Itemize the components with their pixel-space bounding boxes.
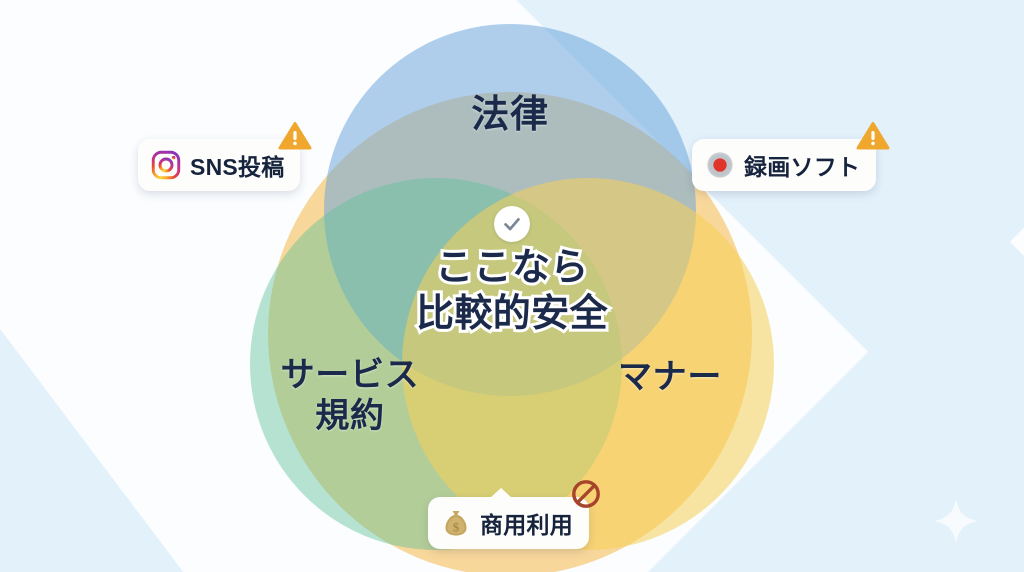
venn-label-terms: サービス 規約	[255, 355, 445, 438]
venn-diagram-canvas: 法律 サービス 規約 マナー ここなら 比較的安全	[0, 0, 1024, 572]
check-circle-icon	[494, 206, 530, 242]
venn-label-manner: マナー	[590, 357, 750, 398]
safe-zone-group: ここなら 比較的安全	[382, 206, 642, 337]
chip-sns-post[interactable]: SNS投稿	[138, 139, 300, 191]
chip-recording-software[interactable]: 録画ソフト	[692, 139, 876, 191]
chip-label-recording-software: 録画ソフト	[744, 148, 860, 182]
chip-label-commercial-use: 商用利用	[480, 506, 573, 540]
instagram-icon	[151, 150, 181, 180]
money-bag-icon: $	[441, 508, 471, 538]
safe-zone-text: ここなら 比較的安全	[382, 246, 642, 337]
record-button-icon	[705, 150, 735, 180]
chip-commercial-use[interactable]: $ 商用利用	[428, 497, 589, 549]
chip-pointer	[490, 488, 512, 498]
venn-label-law: 法律	[430, 92, 590, 138]
svg-text:$: $	[453, 520, 460, 535]
chip-label-sns-post: SNS投稿	[190, 148, 284, 182]
